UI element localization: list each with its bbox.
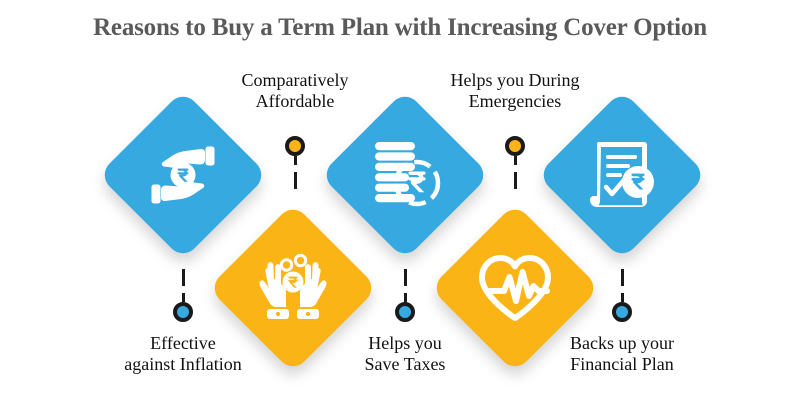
page-title: Reasons to Buy a Term Plan with Increasi… (0, 14, 800, 42)
connector-stem (404, 293, 407, 302)
hands-exchanging-rupee-coin-icon (123, 115, 243, 235)
connector-dash (404, 269, 407, 286)
connector-effective-against-inflation (163, 269, 203, 322)
stacked-coins-with-rupee-coin-icon (345, 115, 465, 235)
heart-with-heartbeat-line-icon (455, 228, 575, 348)
connector-stem (621, 293, 624, 302)
infographic-root: Reasons to Buy a Term Plan with Increasi… (0, 0, 800, 400)
invoice-document-with-rupee-coin-icon (562, 115, 682, 235)
connector-backs-up-your-financial-plan (602, 269, 642, 322)
label-backs-up-your-financial-plan: Backs up your Financial Plan (522, 333, 722, 375)
diamond-shape-backs-up-your-financial-plan (537, 90, 707, 260)
connector-stem (182, 293, 185, 302)
label-helps-you-during-emergencies: Helps you During Emergencies (415, 70, 615, 112)
connector-stem (514, 156, 517, 165)
connector-dot (395, 302, 415, 322)
connector-helps-you-save-taxes (385, 269, 425, 322)
connector-dot (285, 136, 305, 156)
label-effective-against-inflation: Effective against Inflation (83, 333, 283, 375)
connector-dash (182, 269, 185, 286)
connector-dash (294, 172, 297, 189)
connector-dot (612, 302, 632, 322)
connector-helps-you-during-emergencies (495, 136, 535, 189)
label-comparatively-affordable: Comparatively Affordable (195, 70, 395, 112)
cupped-hands-with-rupee-coins-icon (233, 228, 353, 348)
connector-dash (621, 269, 624, 286)
connector-dot (173, 302, 193, 322)
label-helps-you-save-taxes: Helps you Save Taxes (305, 333, 505, 375)
connector-dash (514, 172, 517, 189)
connector-dot (505, 136, 525, 156)
connector-comparatively-affordable (275, 136, 315, 189)
connector-stem (294, 156, 297, 165)
